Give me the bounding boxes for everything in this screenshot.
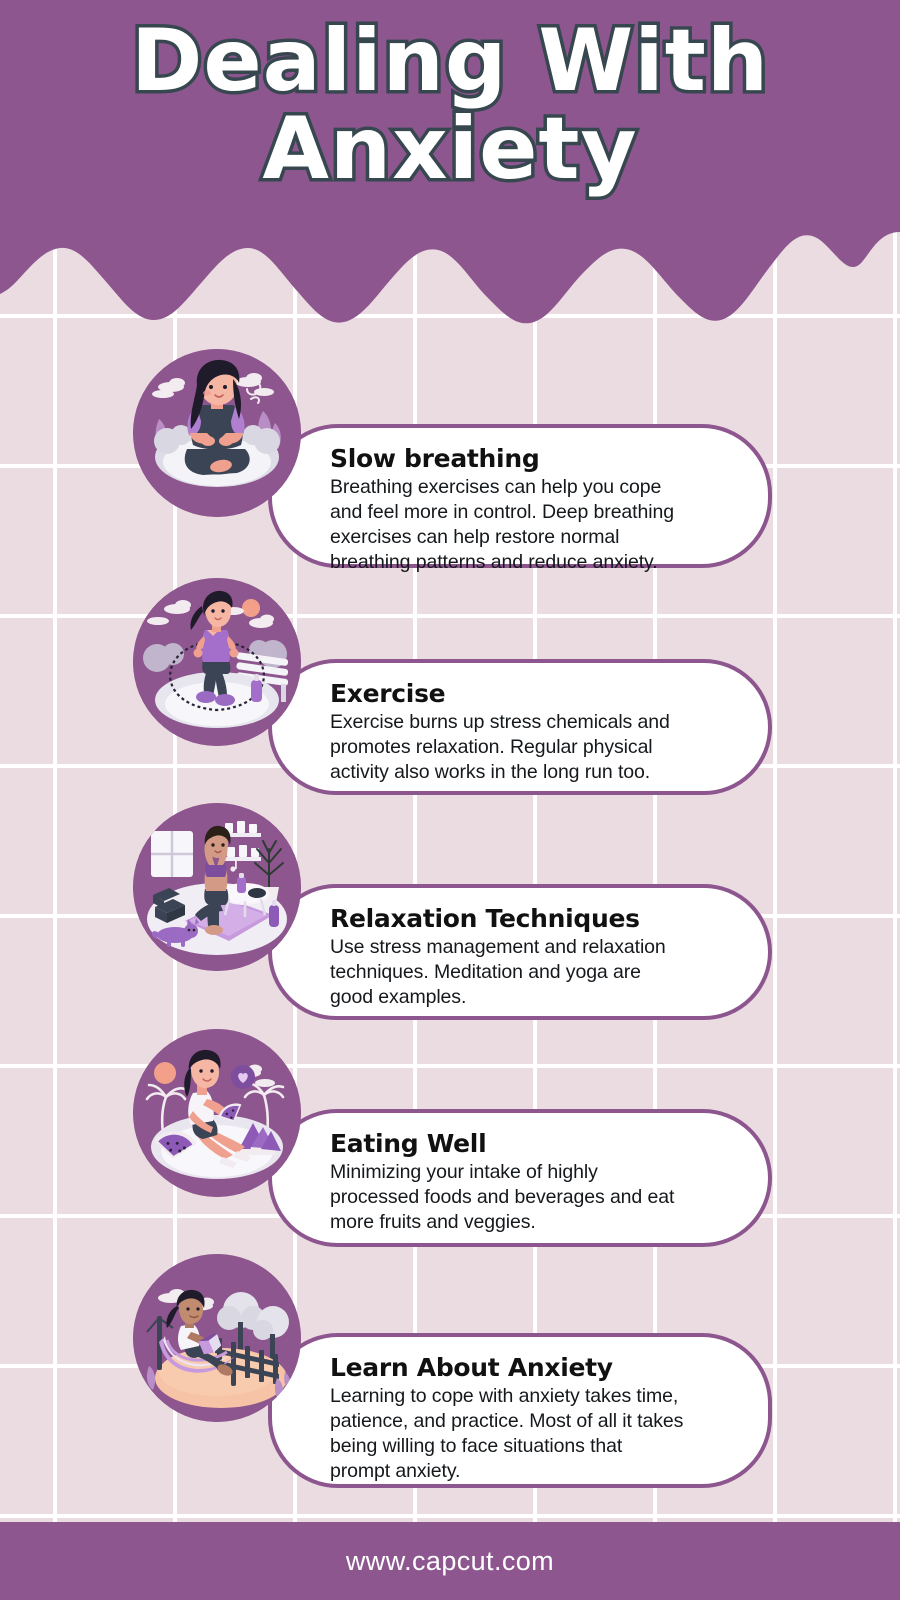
woman-yoga-tree-pose-illustration bbox=[133, 803, 301, 971]
woman-meditating-illustration bbox=[133, 349, 301, 517]
woman-reading-in-hammock-illustration bbox=[133, 1254, 301, 1422]
poster-footer: www.capcut.com bbox=[0, 1522, 900, 1600]
tip-body: Learning to cope with anxiety takes time… bbox=[330, 1384, 734, 1485]
infographic-poster: Dealing With Anxiety bbox=[0, 0, 900, 1600]
website-url[interactable]: www.capcut.com bbox=[346, 1546, 554, 1577]
tip-body: Breathing exercises can help you cope an… bbox=[330, 475, 734, 576]
tip-title: Learn About Anxiety bbox=[330, 1353, 734, 1382]
tip-body: Minimizing your intake of highly process… bbox=[330, 1160, 734, 1235]
tips-list: Slow breathing Breathing exercises can h… bbox=[0, 0, 900, 1600]
tip-card[interactable]: Slow breathing Breathing exercises can h… bbox=[268, 424, 772, 568]
tip-title: Eating Well bbox=[330, 1129, 734, 1158]
tip-title: Exercise bbox=[330, 679, 734, 708]
tip-card[interactable]: Eating Well Minimizing your intake of hi… bbox=[268, 1109, 772, 1247]
tip-title: Slow breathing bbox=[330, 444, 734, 473]
tip-card[interactable]: Learn About Anxiety Learning to cope wit… bbox=[268, 1333, 772, 1488]
tip-card[interactable]: Exercise Exercise burns up stress chemic… bbox=[268, 659, 772, 795]
tip-body: Use stress management and relaxation tec… bbox=[330, 935, 734, 1010]
tip-card[interactable]: Relaxation Techniques Use stress managem… bbox=[268, 884, 772, 1020]
tip-body: Exercise burns up stress chemicals and p… bbox=[330, 710, 734, 785]
tip-title: Relaxation Techniques bbox=[330, 904, 734, 933]
woman-eating-watermelon-illustration bbox=[133, 1029, 301, 1197]
woman-jumping-rope-illustration bbox=[133, 578, 301, 746]
